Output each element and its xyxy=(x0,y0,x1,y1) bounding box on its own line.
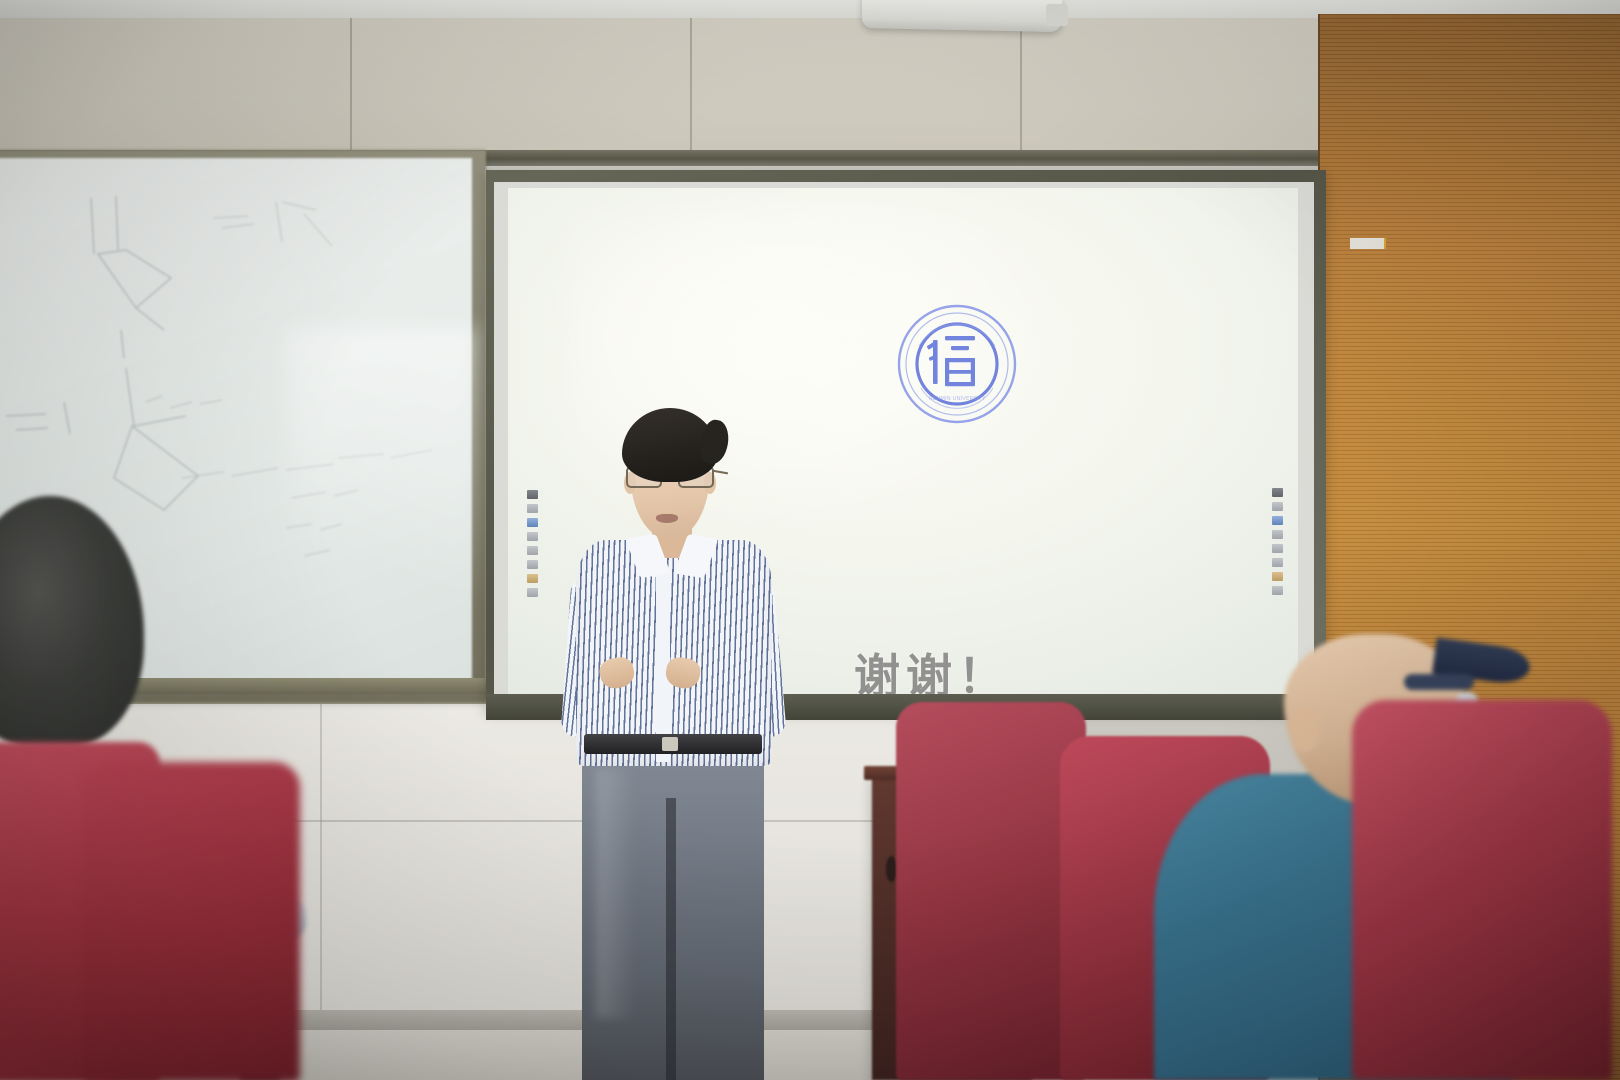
whiteboard-glare xyxy=(286,328,476,668)
presenter-belt xyxy=(584,734,762,754)
presenter-shirt xyxy=(576,540,772,766)
ceiling-light-icon xyxy=(862,0,1062,32)
svg-text:RENMIN UNIVERSITY: RENMIN UNIVERSITY xyxy=(929,396,986,402)
save-icon[interactable] xyxy=(527,574,538,583)
settings-icon[interactable] xyxy=(527,588,538,597)
highlighter-icon[interactable] xyxy=(527,504,538,513)
wall-panel-seam xyxy=(690,18,692,164)
eraser-icon[interactable] xyxy=(1272,516,1283,525)
presenter-mouth xyxy=(656,514,678,523)
auditorium-seat[interactable] xyxy=(896,702,1086,1080)
pen-icon[interactable] xyxy=(1272,488,1283,497)
presenter-hair xyxy=(622,408,718,482)
smartboard-toolbar-left[interactable] xyxy=(525,490,539,597)
lower-wall-seam xyxy=(320,700,322,1030)
highlighter-icon[interactable] xyxy=(1272,502,1283,511)
upper-wall-panels xyxy=(0,18,1340,164)
pen-icon[interactable] xyxy=(527,490,538,499)
cap-strap xyxy=(1404,674,1474,690)
wall-panel-seam xyxy=(350,18,352,164)
lecture-hall-scene: RENMIN UNIVERSITY 谢谢！ 民大学信息学院院长 文继荣 xyxy=(0,0,1620,1080)
presenter xyxy=(548,408,798,1080)
undo-icon[interactable] xyxy=(527,560,538,569)
auditorium-seat[interactable] xyxy=(1352,700,1612,1080)
university-seal-logo: RENMIN UNIVERSITY xyxy=(893,300,1021,433)
wall-panel-seam xyxy=(1020,18,1022,164)
select-icon[interactable] xyxy=(1272,544,1283,553)
jeans-highlight xyxy=(596,768,636,1018)
select-icon[interactable] xyxy=(527,546,538,555)
glasses-temple xyxy=(712,470,728,475)
wall-sign xyxy=(1350,238,1384,249)
eraser-icon[interactable] xyxy=(527,518,538,527)
audience-ear xyxy=(1290,708,1320,752)
shape-icon[interactable] xyxy=(1272,530,1283,539)
shape-icon[interactable] xyxy=(527,532,538,541)
auditorium-seat[interactable] xyxy=(84,762,300,1080)
